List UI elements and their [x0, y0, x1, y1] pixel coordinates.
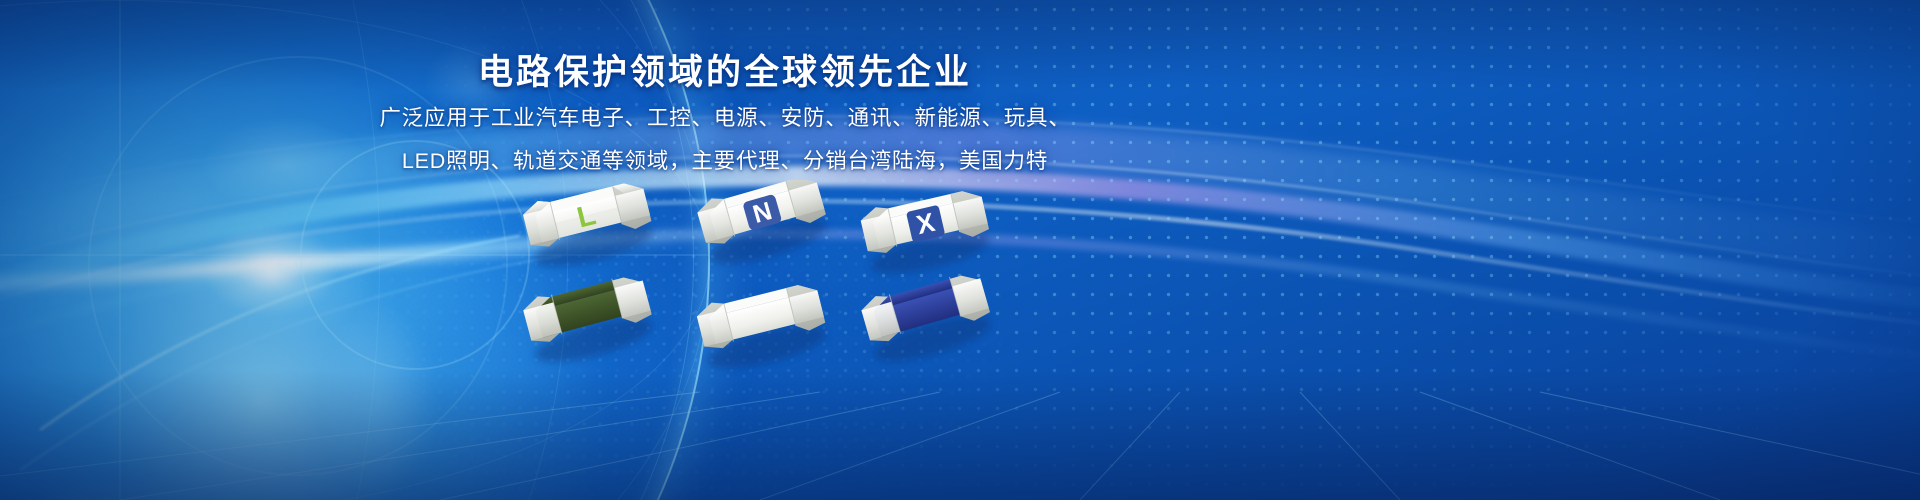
banner-subtitle-line-1: 广泛应用于工业汽车电子、工控、电源、安防、通讯、新能源、玩具、 [0, 101, 1450, 132]
product-chip-5 [695, 277, 832, 377]
banner-headline: 电路保护领域的全球领先企业 [0, 44, 1450, 95]
product-chip-3: X [859, 183, 995, 281]
product-chip-2: N [695, 180, 833, 273]
product-chip-6 [859, 267, 997, 370]
product-group-smd-fuses: L N X [500, 180, 1020, 390]
hero-banner: 电路保护领域的全球领先企业 广泛应用于工业汽车电子、工控、电源、安防、通讯、新能… [0, 0, 1920, 500]
banner-subtitle-line-2: LED照明、轨道交通等领域，主要代理、分销台湾陆海，美国力特 [0, 144, 1450, 175]
product-chip-4 [521, 269, 659, 371]
product-chip-1: L [521, 180, 658, 275]
